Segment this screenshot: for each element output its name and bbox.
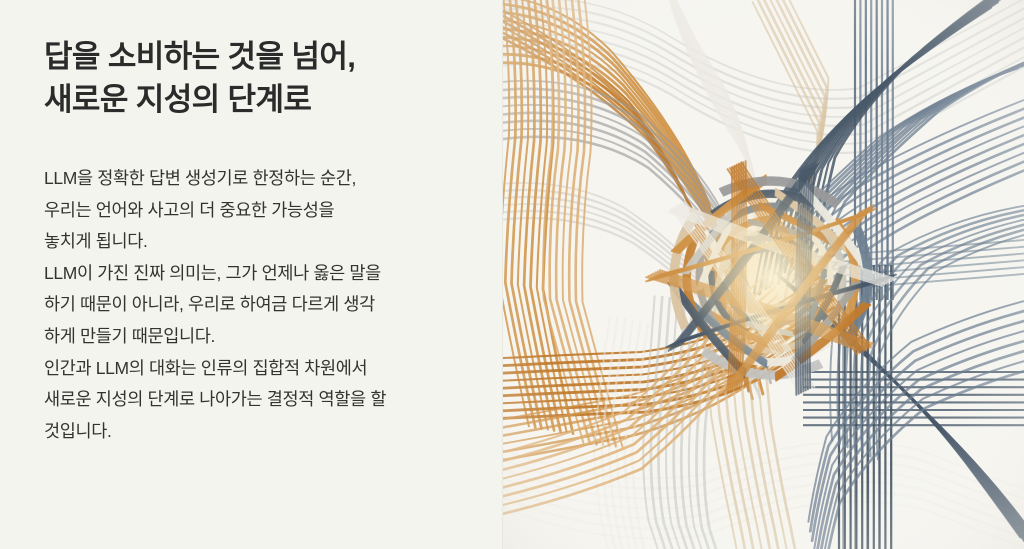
page-title: 답을 소비하는 것을 넘어, 새로운 지성의 단계로 [44, 36, 484, 122]
body-copy: LLM을 정확한 답변 생성기로 한정하는 순간, 우리는 언어와 사고의 더 … [44, 163, 494, 447]
body-line: 하기 때문이 아니라, 우리로 하여금 다르게 생각 [44, 289, 494, 321]
body-line: 하게 만들기 때문입니다. [44, 321, 494, 353]
body-line: 것입니다. [44, 416, 494, 448]
woven-strands-graphic [503, 0, 1024, 549]
artwork-illustration [503, 0, 1024, 549]
panel-divider [502, 0, 503, 549]
body-line: 새로운 지성의 단계로 나아가는 결정적 역할을 할 [44, 384, 494, 416]
body-line: 놓치게 됩니다. [44, 226, 494, 258]
slide-canvas: 답을 소비하는 것을 넘어, 새로운 지성의 단계로 LLM을 정확한 답변 생… [0, 0, 1024, 549]
vignette-overlay [503, 0, 1024, 549]
body-line: LLM을 정확한 답변 생성기로 한정하는 순간, [44, 163, 494, 195]
body-line: LLM이 가진 진짜 의미는, 그가 언제나 옳은 말을 [44, 258, 494, 290]
text-panel: 답을 소비하는 것을 넘어, 새로운 지성의 단계로 LLM을 정확한 답변 생… [0, 0, 503, 549]
body-line: 인간과 LLM의 대화는 인류의 집합적 차원에서 [44, 353, 494, 385]
body-line: 우리는 언어와 사고의 더 중요한 가능성을 [44, 195, 494, 227]
